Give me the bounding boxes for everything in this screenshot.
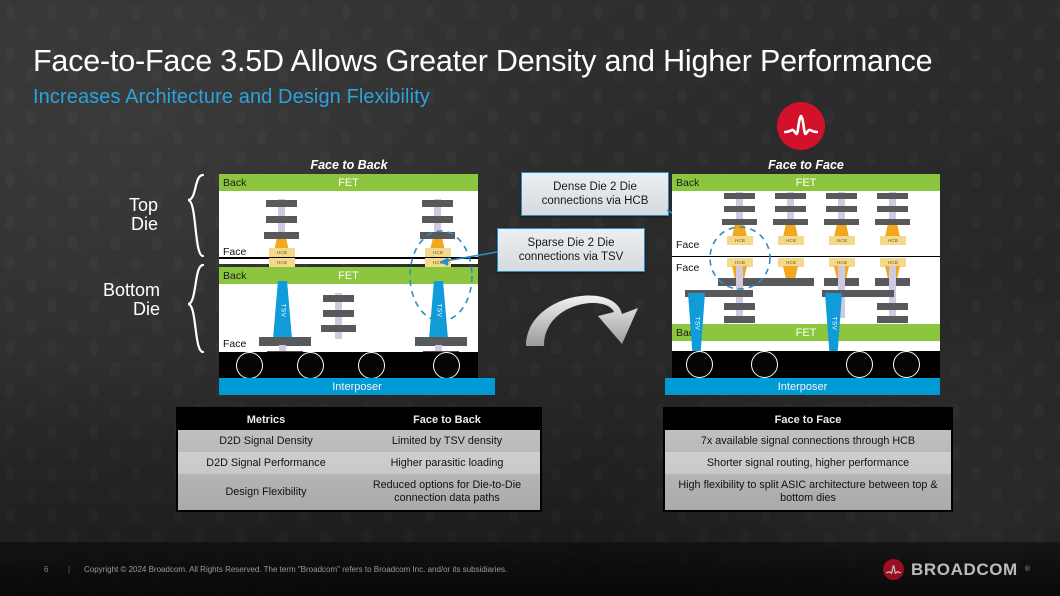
metal-layer [877, 303, 908, 310]
table-row: Design Flexibility Reduced options for D… [178, 474, 540, 510]
table-header-row: Face to Face [665, 409, 951, 430]
metal-layer [824, 219, 859, 225]
metal-layer [826, 193, 857, 199]
table-row: D2D Signal Performance Higher parasitic … [178, 452, 540, 474]
hcb-cone [783, 266, 798, 278]
left-bottom-die-face-label: Face [223, 338, 246, 350]
hcb-pad: HCB [880, 236, 906, 245]
callout-connectors [440, 210, 700, 280]
metal-layer [826, 206, 857, 212]
metal-layer [875, 219, 910, 225]
metal-layer [724, 303, 755, 310]
metal-layer [266, 216, 297, 223]
table-cell: Reduced options for Die-to-Die connectio… [354, 476, 540, 508]
left-interposer: Interposer [219, 378, 495, 395]
page-subtitle: Increases Architecture and Design Flexib… [33, 86, 430, 109]
metal-layer [724, 316, 755, 323]
metal-layer [773, 219, 808, 225]
table-header-cell: Face to Back [354, 414, 540, 426]
hcb-pad: HCB [269, 248, 295, 257]
table-cell: Design Flexibility [178, 483, 354, 502]
slide-canvas: Face-to-Face 3.5D Allows Greater Density… [0, 0, 1060, 596]
metal-layer [724, 206, 755, 212]
broadcom-logo: BROADCOM ® [883, 559, 1030, 580]
left-comparison-table: Metrics Face to Back D2D Signal Density … [176, 407, 542, 512]
footer-page-number: 6 [44, 565, 48, 574]
right-bottom-die-face-label: Face [676, 262, 699, 274]
solder-bump [846, 351, 873, 378]
tsv: TSV [273, 281, 292, 339]
table-cell: D2D Signal Density [178, 432, 354, 451]
page-title: Face-to-Face 3.5D Allows Greater Density… [33, 44, 932, 79]
solder-bump [236, 352, 263, 379]
right-bottom-die-fet-label: FET [672, 327, 940, 339]
metal-layer [724, 193, 755, 199]
broadcom-pulse-icon [777, 102, 825, 150]
table-cell: D2D Signal Performance [178, 454, 354, 473]
tsv: TSV [825, 293, 842, 353]
solder-bump [751, 351, 778, 378]
metal-layer [266, 200, 297, 207]
metal-layer [264, 232, 299, 239]
bottom-die-label: Bottom Die [78, 281, 160, 318]
table-cell: Shorter signal routing, higher performan… [665, 454, 951, 473]
die-braces [170, 172, 210, 362]
top-die-label: Top Die [88, 196, 158, 233]
solder-bump [686, 351, 713, 378]
table-cell: Higher parasitic loading [354, 454, 540, 473]
right-comparison-table: Face to Face 7x available signal connect… [663, 407, 953, 512]
right-top-die-fet-label: FET [672, 177, 940, 189]
solder-bump [358, 352, 385, 379]
broadcom-wordmark: BROADCOM [911, 560, 1018, 580]
hcb-pad: HCB [778, 236, 804, 245]
metal-layer [321, 325, 356, 332]
table-row: 7x available signal connections through … [665, 430, 951, 452]
transition-arrow-icon [518, 272, 658, 352]
metal-layer [877, 206, 908, 212]
solder-bump [297, 352, 324, 379]
metal-layer [775, 206, 806, 212]
footer-separator: | [68, 565, 70, 574]
table-cell: 7x available signal connections through … [665, 432, 951, 451]
right-top-die-back-band: Back FET [672, 174, 940, 191]
right-highlight-ellipse [706, 225, 774, 291]
table-cell: High flexibility to split ASIC architect… [665, 476, 951, 508]
table-row: Shorter signal routing, higher performan… [665, 452, 951, 474]
hcb-pad: HCB [778, 258, 804, 267]
footer-copyright: Copyright © 2024 Broadcom. All Rights Re… [84, 565, 507, 574]
trademark-symbol: ® [1025, 566, 1030, 573]
hcb-pad: HCB [829, 236, 855, 245]
broadcom-pulse-icon [883, 559, 904, 580]
metal-layer [323, 295, 354, 302]
right-bottom-die-back-band: Back FET [672, 324, 940, 341]
metal-layer [323, 310, 354, 317]
left-top-die-fet-label: FET [219, 177, 478, 189]
table-row: D2D Signal Density Limited by TSV densit… [178, 430, 540, 452]
table-cell: Limited by TSV density [354, 432, 540, 451]
table-header-row: Metrics Face to Back [178, 409, 540, 430]
right-interposer: Interposer [665, 378, 940, 395]
metal-layer [422, 200, 453, 207]
solder-bump [433, 352, 460, 379]
left-diagram-caption: Face to Back [220, 158, 478, 172]
metal-layer [877, 316, 908, 323]
table-row: High flexibility to split ASIC architect… [665, 474, 951, 510]
table-header-cell: Metrics [178, 414, 354, 426]
metal-layer [775, 193, 806, 199]
right-diagram-caption: Face to Face [672, 158, 940, 172]
right-top-die-face-label: Face [676, 239, 699, 251]
metal-layer [877, 193, 908, 199]
tsv: TSV [688, 293, 705, 353]
solder-bump [893, 351, 920, 378]
table-header-cell: Face to Face [665, 414, 951, 426]
hcb-pad: HCB [269, 258, 295, 267]
left-top-die-back-band: Back FET [219, 174, 478, 191]
